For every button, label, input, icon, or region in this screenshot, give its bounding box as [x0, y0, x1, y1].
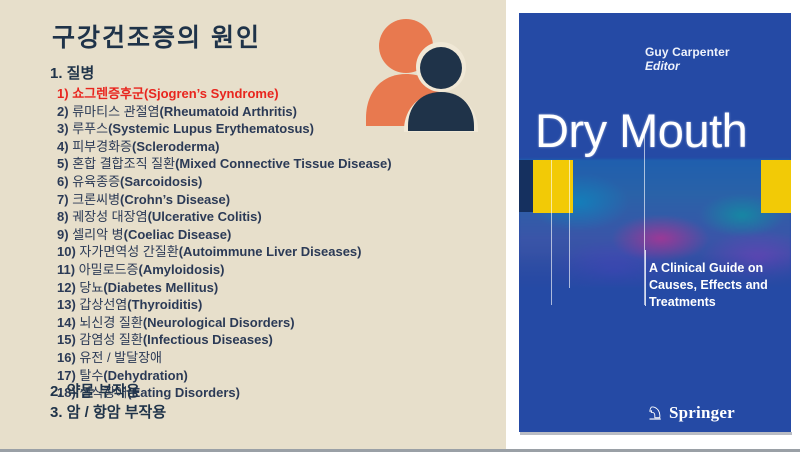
list-item: 5) 혼합 결합조직 질환(Mixed Connective Tissue Di…: [57, 155, 497, 173]
springer-knight-icon: [647, 405, 664, 422]
list-item-label-ko: 류마티스 관절염: [72, 104, 159, 119]
disease-list: 1) 쇼그렌증후군(Sjogren’s Syndrome)2) 류마티스 관절염…: [57, 85, 497, 402]
list-item: 14) 뇌신경 질환(Neurological Disorders): [57, 314, 497, 332]
list-item-number: 10): [57, 244, 76, 259]
slide-canvas: 구강건조증의 원인 1. 질병 1) 쇼그렌증후군(Sjogren’s Synd…: [0, 0, 800, 452]
list-item: 10) 자가면역성 간질환(Autoimmune Liver Diseases): [57, 243, 497, 261]
list-item-label-ko: 루푸스: [72, 121, 108, 136]
section-heading-1: 1. 질병: [50, 62, 94, 83]
list-item-label-en: (Scleroderma): [132, 139, 219, 154]
page-title: 구강건조증의 원인: [52, 18, 261, 54]
list-item-label-ko: 뇌신경 질환: [79, 315, 142, 330]
list-item-label-ko: 당뇨: [79, 280, 103, 295]
list-item-label-en: (Amyloidosis): [139, 262, 225, 277]
list-item-label-en: (Thyroiditis): [127, 297, 202, 312]
list-item-number: 2): [57, 104, 69, 119]
list-item-label-ko: 자가면역성 간질환: [79, 244, 178, 259]
list-item-label-ko: 피부경화증: [72, 139, 132, 154]
book-subtitle: A Clinical Guide on Causes, Effects and …: [649, 260, 779, 311]
list-item-label-en: (Crohn’s Disease): [120, 192, 230, 207]
springer-wordmark: Springer: [669, 403, 735, 423]
list-item: 9) 셀리악 병(Coeliac Disease): [57, 226, 497, 244]
list-item: 7) 크론씨병(Crohn’s Disease): [57, 191, 497, 209]
list-item-number: 11): [57, 262, 75, 277]
cover-rule-2: [569, 160, 570, 288]
list-item-label-ko: 셀리악 병: [72, 227, 123, 242]
list-item-label-ko: 갑상선염: [79, 297, 127, 312]
list-item-number: 7): [57, 192, 69, 207]
list-item: 12) 당뇨(Diabetes Mellitus): [57, 279, 497, 297]
section-heading-2: 2. 약물 부작용: [50, 380, 140, 401]
list-item-label-ko: 쇼그렌증후군: [72, 86, 144, 101]
list-item-label-ko: 혼합 결합조직 질환: [72, 156, 175, 171]
book-cover: Guy Carpenter Editor Dry Mouth A Clinica…: [519, 13, 791, 432]
list-item-label-ko: 유육종증: [72, 174, 120, 189]
book-title: Dry Mouth: [535, 105, 785, 157]
list-item: 3) 루푸스(Systemic Lupus Erythematosus): [57, 120, 497, 138]
cover-rule-4: [645, 250, 646, 306]
book-cover-image: Guy Carpenter Editor Dry Mouth A Clinica…: [519, 13, 791, 435]
book-shadow: [520, 432, 792, 435]
list-item-label-ko: 궤장성 대장염: [72, 209, 147, 224]
springer-logo: Springer: [647, 403, 735, 423]
cover-dark-slab: [519, 160, 533, 212]
list-item-label-en: (Diabetes Mellitus): [103, 280, 218, 295]
content-panel: 구강건조증의 원인 1. 질병 1) 쇼그렌증후군(Sjogren’s Synd…: [0, 0, 506, 449]
list-item-label-ko: 감염성 질환: [79, 332, 142, 347]
list-item-label-en: (Coeliac Disease): [124, 227, 232, 242]
list-item-label-en: (Mixed Connective Tissue Disease): [175, 156, 392, 171]
list-item-label-en: (Infectious Diseases): [143, 332, 273, 347]
book-author-role: Editor: [645, 59, 680, 73]
list-item-label-en: (Eating Disorders): [127, 385, 240, 400]
list-item: 13) 갑상선염(Thyroiditis): [57, 296, 497, 314]
list-item: 6) 유육종증(Sarcoidosis): [57, 173, 497, 191]
list-item-number: 4): [57, 139, 69, 154]
list-item-number: 9): [57, 227, 69, 242]
list-item-number: 8): [57, 209, 69, 224]
list-item: 4) 피부경화증(Scleroderma): [57, 138, 497, 156]
list-item-label-en: (Rheumatoid Arthritis): [160, 104, 297, 119]
list-item-label-en: (Sarcoidosis): [120, 174, 202, 189]
list-item-label-en: (Systemic Lupus Erythematosus): [108, 121, 314, 136]
list-item-number: 14): [57, 315, 76, 330]
list-item-number: 12): [57, 280, 76, 295]
list-item-label-en: (Neurological Disorders): [143, 315, 295, 330]
list-item-label-en: (Sjogren’s Syndrome): [144, 86, 279, 101]
list-item-number: 3): [57, 121, 69, 136]
list-item-number: 6): [57, 174, 69, 189]
cover-rule-1: [551, 160, 552, 305]
list-item-number: 16): [57, 350, 76, 365]
list-item-label-en: (Ulcerative Colitis): [148, 209, 262, 224]
list-item-label-ko: 크론씨병: [72, 192, 120, 207]
list-item: 1) 쇼그렌증후군(Sjogren’s Syndrome): [57, 85, 497, 103]
cover-yellow-bar-left: [533, 160, 573, 213]
list-item: 15) 감염성 질환(Infectious Diseases): [57, 331, 497, 349]
list-item-number: 1): [57, 86, 69, 101]
list-item-number: 15): [57, 332, 76, 347]
book-author: Guy Carpenter: [645, 45, 730, 59]
list-item: 8) 궤장성 대장염(Ulcerative Colitis): [57, 208, 497, 226]
list-item-label-ko: 아밀로드증: [79, 262, 139, 277]
cover-yellow-bar-right: [761, 160, 791, 213]
list-item-number: 5): [57, 156, 69, 171]
list-item: 16) 유전 / 발달장애: [57, 349, 497, 367]
list-item-number: 13): [57, 297, 76, 312]
section-heading-3: 3. 암 / 항암 부작용: [50, 401, 166, 422]
list-item: 2) 류마티스 관절염(Rheumatoid Arthritis): [57, 103, 497, 121]
list-item-label-en: (Autoimmune Liver Diseases): [179, 244, 362, 259]
list-item-label-ko: 유전 / 발달장애: [79, 350, 162, 365]
list-item: 11) 아밀로드증(Amyloidosis): [57, 261, 497, 279]
